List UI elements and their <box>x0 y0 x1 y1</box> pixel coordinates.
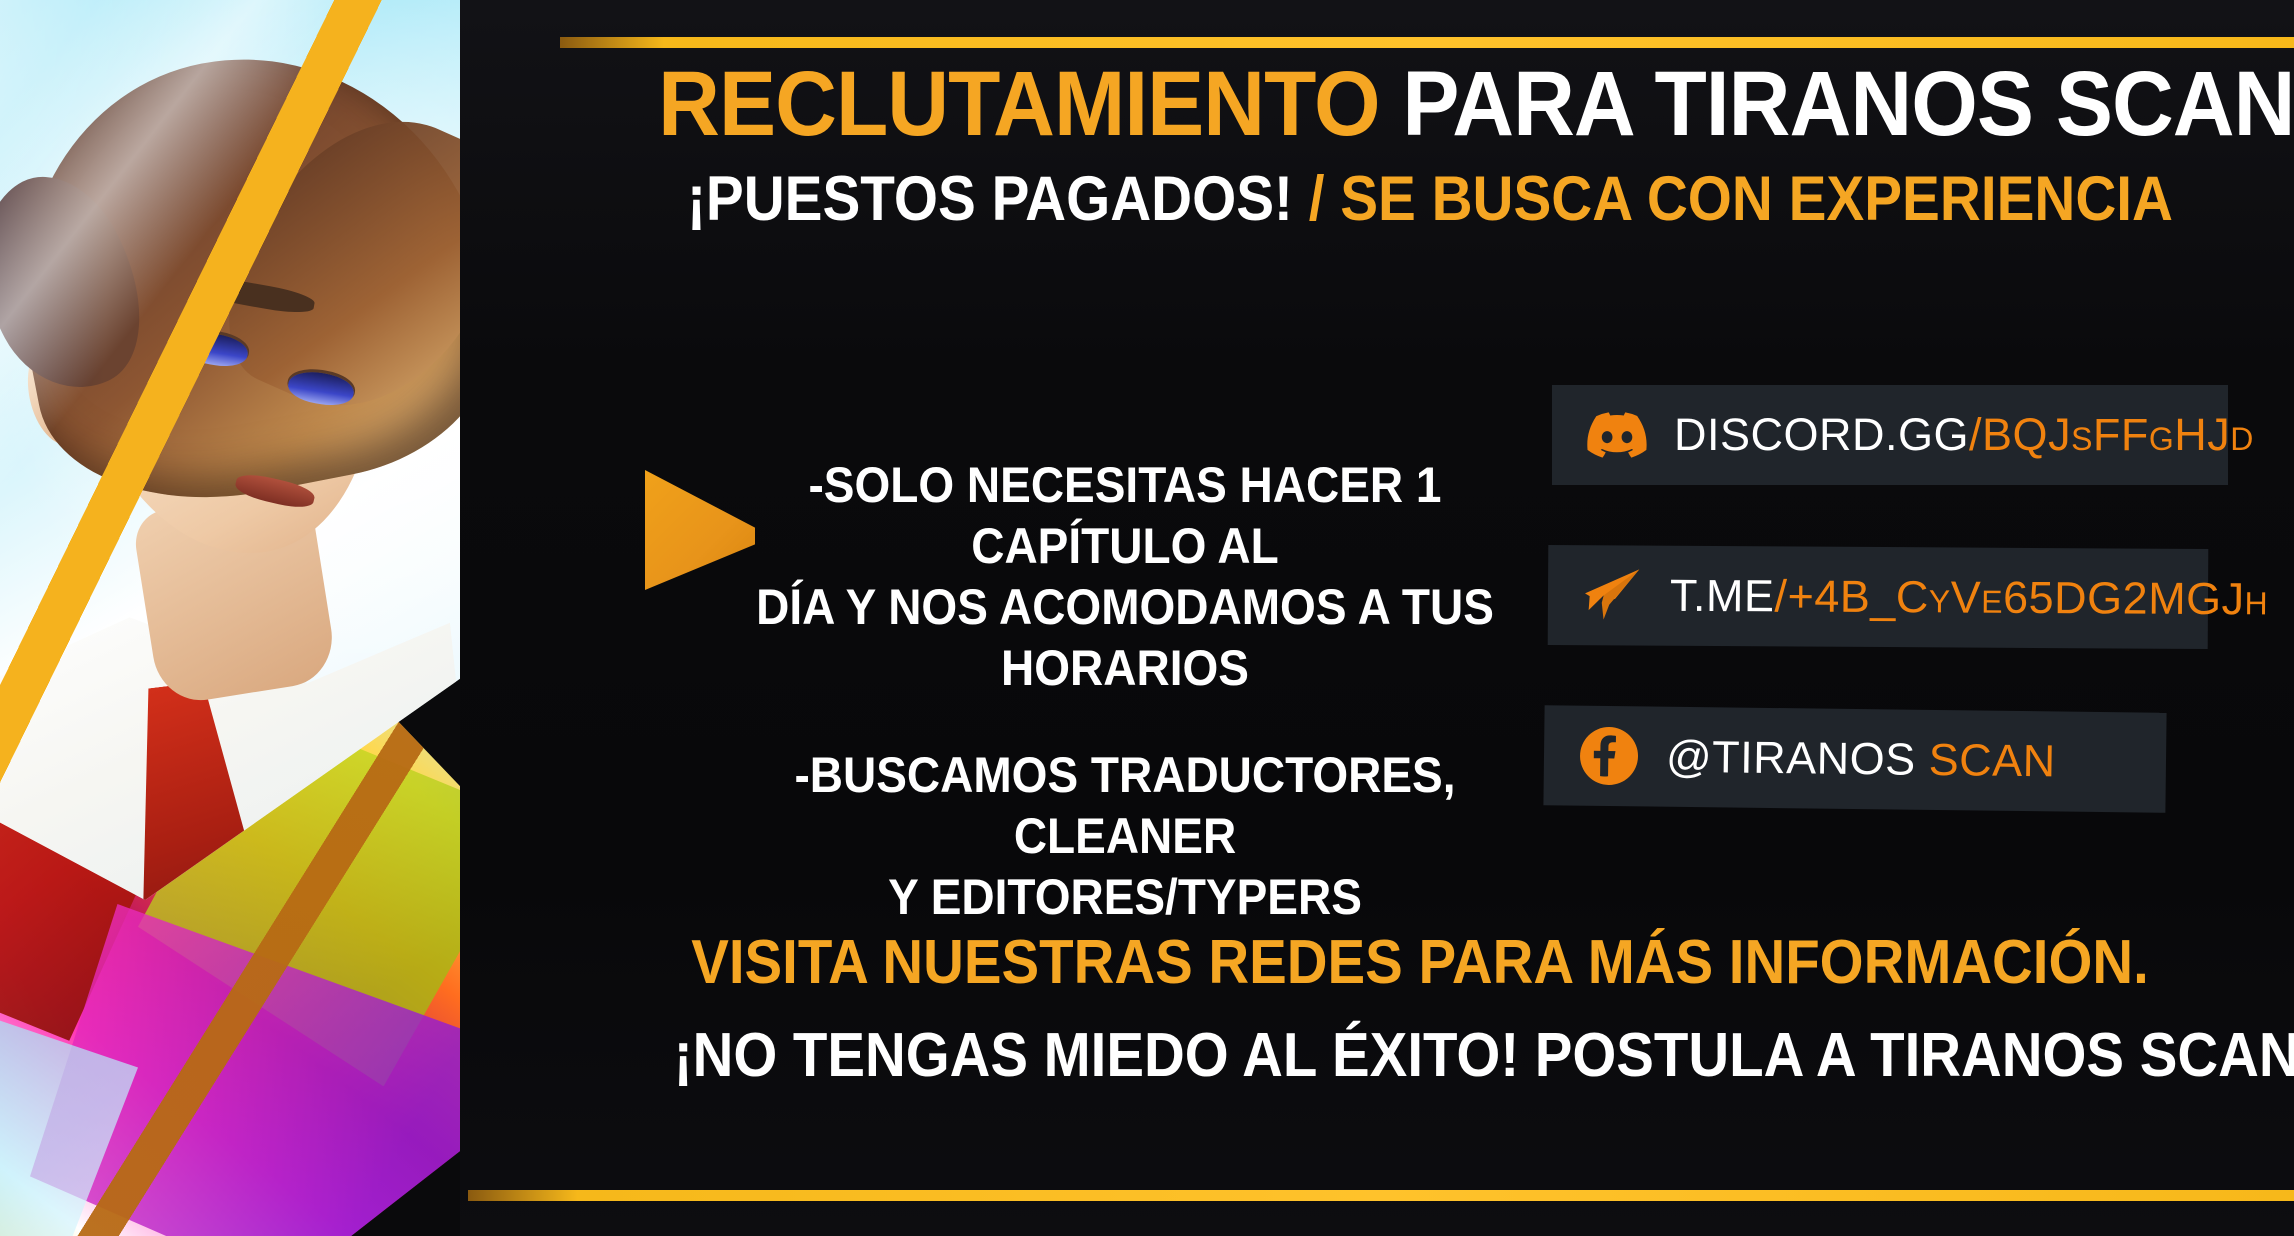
telegram-icon <box>1582 564 1644 626</box>
telegram-link-text: T.ME/+4B_CyVe65DG2MGJh <box>1670 570 2269 626</box>
headline-plain: PARA TIRANOS SCAN <box>1380 53 2294 155</box>
headline: RECLUTAMIENTO PARA TIRANOS SCAN <box>658 58 2202 150</box>
telegram-invite-code: +4B_CyVe65DG2MGJh <box>1787 570 2268 624</box>
facebook-handle: @TIRANOS <box>1666 731 1916 785</box>
facebook-handle-text: @TIRANOS SCAN <box>1666 731 2056 788</box>
contact-list: DISCORD.GG/BQJsFFgHJd T.ME/+4B_CyVe65DG2… <box>1552 385 2232 809</box>
requirement-block-roles: -BUSCAMOS TRADUCTORES, CLEANER Y EDITORE… <box>725 745 1525 928</box>
facebook-handle-suffix: SCAN <box>1928 734 2056 787</box>
requirement-line: -SOLO NECESITAS HACER 1 CAPÍTULO AL <box>725 455 1525 577</box>
top-gold-rule <box>560 37 2294 48</box>
subheadline-accent: / SE BUSCA CON EXPERIENCIA <box>1293 164 2173 234</box>
requirement-block-schedule: -SOLO NECESITAS HACER 1 CAPÍTULO AL DÍA … <box>725 455 1525 699</box>
subheadline: ¡PUESTOS PAGADOS! / SE BUSCA CON EXPERIE… <box>683 168 2177 231</box>
facebook-icon <box>1578 725 1641 788</box>
requirement-line: -BUSCAMOS TRADUCTORES, CLEANER <box>725 745 1525 867</box>
requirement-line: DÍA Y NOS ACOMODAMOS A TUS HORARIOS <box>725 577 1525 699</box>
requirements-text: -SOLO NECESITAS HACER 1 CAPÍTULO AL DÍA … <box>725 455 1525 928</box>
requirement-line: Y EDITORES/TYPERS <box>725 867 1525 928</box>
call-to-action: VISITA NUESTRAS REDES PARA MÁS INFORMACI… <box>674 930 2166 1088</box>
discord-invite-code: BQJsFFgHJd <box>1982 409 2254 460</box>
telegram-domain: T.ME <box>1670 570 1775 622</box>
discord-link-text: DISCORD.GG/BQJsFFgHJd <box>1674 409 2254 461</box>
facebook-separator <box>1915 734 1929 785</box>
contact-row-discord[interactable]: DISCORD.GG/BQJsFFgHJd <box>1552 385 2228 485</box>
contact-row-telegram[interactable]: T.ME/+4B_CyVe65DG2MGJh <box>1548 545 2209 649</box>
discord-separator: / <box>1969 409 1982 460</box>
telegram-separator: / <box>1774 570 1787 621</box>
discord-icon <box>1586 404 1648 466</box>
bottom-gold-rule <box>468 1190 2294 1201</box>
cta-line-networks: VISITA NUESTRAS REDES PARA MÁS INFORMACI… <box>674 930 2166 995</box>
recruitment-banner: RECLUTAMIENTO PARA TIRANOS SCAN ¡PUESTOS… <box>0 0 2294 1236</box>
discord-domain: DISCORD.GG <box>1674 409 1969 460</box>
cta-line-apply: ¡NO TENGAS MIEDO AL ÉXITO! POSTULA A TIR… <box>674 1023 2166 1088</box>
subheadline-plain: ¡PUESTOS PAGADOS! <box>687 164 1293 234</box>
contact-row-facebook[interactable]: @TIRANOS SCAN <box>1543 705 2166 813</box>
headline-accent: RECLUTAMIENTO <box>658 53 1379 155</box>
